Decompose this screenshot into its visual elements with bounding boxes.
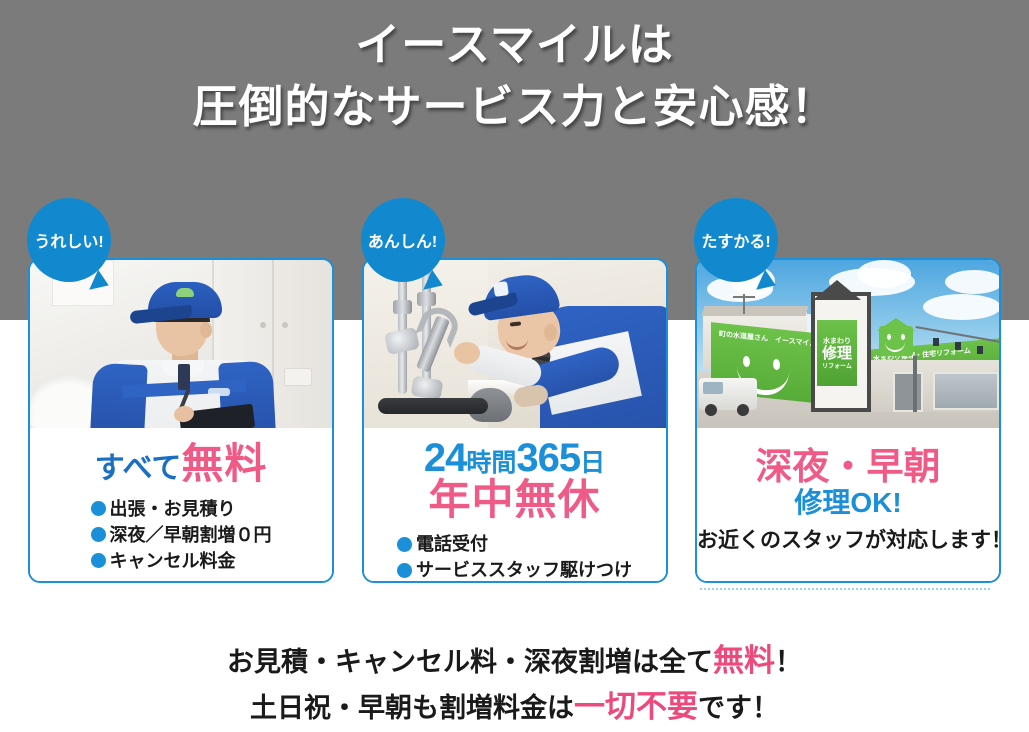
- bullet-label: 出張・お見積り: [110, 496, 236, 522]
- footer-line2-highlight: 一切不要: [574, 689, 698, 724]
- footer-line1-part-c: ！: [775, 647, 802, 677]
- card-photo-technician-tablet: [30, 260, 332, 428]
- card-title-free-part2: 無料: [181, 440, 267, 487]
- footer-line-2: 土日祝・早朝も割増料金は一切不要です！: [0, 684, 1029, 730]
- card-photo-shop-exterior: 水まわり修理・住宅リフォーム 町の水道屋さん イースマイル: [697, 260, 999, 428]
- bullet-dot-icon: [397, 537, 412, 552]
- bullet-label: キャンセル料金: [110, 548, 236, 574]
- list-item: 深夜／早朝割増０円: [91, 522, 272, 548]
- card-title-24h-line2: 年中無休: [364, 478, 666, 522]
- card-title-latenight-line2: 修理OK!: [697, 488, 999, 517]
- list-item: サービススタッフ駆けつけ: [397, 557, 632, 583]
- footer-line2-part-c: です！: [698, 693, 779, 723]
- card-bullet-list-24h: 電話受付 サービススタッフ駆けつけ: [397, 531, 632, 583]
- card-body-latenight: 深夜・早朝 修理OK! お近くのスタッフが対応します！: [697, 428, 999, 581]
- tower-sign-mid: 修理: [822, 346, 852, 361]
- card-body-24h: 24時間365日 年中無休 電話受付 サービススタッフ駆けつけ: [364, 428, 666, 581]
- card-title-free-part1: すべて: [95, 452, 182, 485]
- card-photo-technician-wrench: [364, 260, 666, 428]
- footer-line2-part-a: 土日祝・早朝も割増料金は: [250, 693, 574, 723]
- feature-card-24h[interactable]: あんしん!: [362, 258, 668, 583]
- badge-label: うれしい!: [34, 228, 103, 252]
- bullet-label: 電話受付: [416, 531, 488, 557]
- footer-line1-part-a: お見積・キャンセル料・深夜割増は全て: [227, 647, 713, 677]
- bullet-dot-icon: [91, 527, 106, 542]
- badge-label: たすかる!: [701, 228, 770, 252]
- card-title-24h-line1: 24時間365日: [364, 438, 666, 480]
- bullet-label: サービススタッフ駆けつけ: [416, 557, 632, 583]
- card-body-free: すべて無料 出張・お見積り 深夜／早朝割増０円 キャンセル料金: [30, 428, 332, 581]
- badge-anshin: あんしん!: [361, 198, 445, 282]
- card-title-24h-num2: 365: [516, 436, 580, 480]
- feature-card-row: うれしい!: [28, 258, 1001, 583]
- feature-card-free[interactable]: うれしい!: [28, 258, 334, 583]
- dotted-divider: [700, 588, 990, 590]
- card-title-latenight-line1: 深夜・早朝: [697, 448, 999, 486]
- bullet-dot-icon: [91, 553, 106, 568]
- headline-line-1: イースマイルは: [0, 14, 1029, 76]
- badge-ureshii: うれしい!: [27, 198, 111, 282]
- card-title-24h-num1: 24: [424, 436, 467, 480]
- card-subtitle-latenight: お近くのスタッフが対応します！: [697, 524, 999, 554]
- bullet-dot-icon: [91, 501, 106, 516]
- footer-line1-highlight: 無料: [713, 643, 775, 678]
- card-title-24h-unit2: 日: [580, 449, 605, 477]
- footer-line-1: お見積・キャンセル料・深夜割増は全て無料！: [0, 638, 1029, 684]
- bullet-label: 深夜／早朝割増０円: [110, 522, 272, 548]
- bullet-dot-icon: [397, 563, 412, 578]
- feature-card-latenight[interactable]: たすかる! 水まわり修理・住宅リフォーム: [695, 258, 1001, 583]
- card-bullet-list-free: 出張・お見積り 深夜／早朝割増０円 キャンセル料金: [91, 496, 272, 574]
- list-item: 電話受付: [397, 531, 632, 557]
- list-item: 出張・お見積り: [91, 496, 272, 522]
- footer-note: お見積・キャンセル料・深夜割増は全て無料！ 土日祝・早朝も割増料金は一切不要です…: [0, 638, 1029, 730]
- badge-label: あんしん!: [368, 228, 437, 252]
- badge-tasukaru: たすかる!: [694, 198, 778, 282]
- page-root: イースマイルは 圧倒的なサービス力と安心感！ うれしい!: [0, 0, 1029, 732]
- card-title-24h-unit1: 時間: [466, 449, 516, 477]
- list-item: キャンセル料金: [91, 548, 272, 574]
- headline-line-2: 圧倒的なサービス力と安心感！: [0, 76, 1029, 138]
- tower-sign-bottom: リフォーム: [822, 361, 852, 370]
- card-title-free: すべて無料: [30, 442, 332, 486]
- page-headline: イースマイルは 圧倒的なサービス力と安心感！: [0, 14, 1029, 138]
